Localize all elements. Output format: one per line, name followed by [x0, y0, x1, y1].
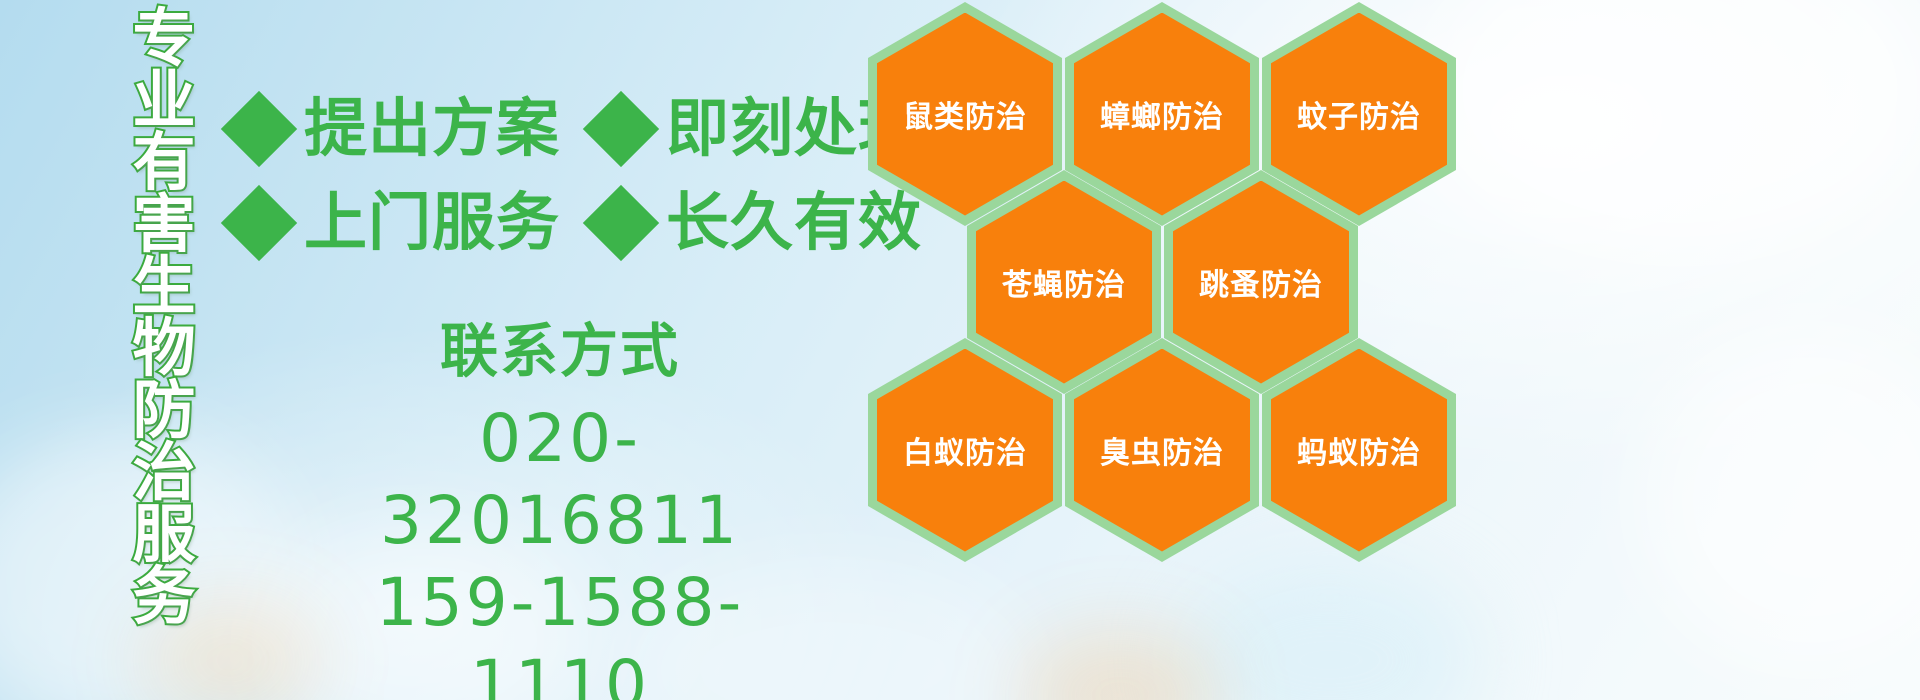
vertical-title-char: 生 — [133, 256, 196, 318]
vertical-title-char: 有 — [133, 132, 196, 194]
vertical-title: 专 业 有 害 生 物 防 治 服 务 — [108, 8, 220, 568]
slogan-row: 提出方案 即刻处理 — [232, 82, 872, 176]
background-bokeh-blob — [1420, 0, 1920, 260]
vertical-title-char: 治 — [133, 442, 196, 504]
service-hexagon-label: 蟑螂防治 — [1100, 92, 1224, 136]
vertical-title-char: 务 — [133, 566, 196, 628]
promo-banner: 专 业 有 害 生 物 防 治 服 务 提出方案 即刻处理 上门服务 长久有效 … — [0, 0, 1920, 700]
contact-block: 联系方式 020-32016811 159-1588-1110 — [300, 316, 820, 700]
slogan-item-label: 上门服务 — [304, 188, 560, 258]
service-hexagon-inner: 蟑螂防治 — [1074, 13, 1250, 216]
service-hexagon-label: 蚂蚁防治 — [1297, 428, 1421, 472]
service-hexagon-inner: 蚊子防治 — [1271, 13, 1447, 216]
vertical-title-char: 服 — [133, 504, 196, 566]
service-hexagon-label: 白蚁防治 — [903, 428, 1027, 472]
slogan-row: 上门服务 长久有效 — [232, 176, 872, 270]
service-hexagon-grid: 鼠类防治 蟑螂防治 蚊子防治 苍蝇防治 跳蚤防治 白蚁防治 — [862, 0, 1462, 552]
vertical-title-char: 防 — [133, 380, 196, 442]
service-hexagon-inner: 臭虫防治 — [1074, 349, 1250, 552]
service-hexagon-inner: 跳蚤防治 — [1173, 181, 1349, 384]
diamond-icon — [583, 91, 659, 167]
service-hexagon-inner: 鼠类防治 — [877, 13, 1053, 216]
phone-landline[interactable]: 020-32016811 — [300, 398, 820, 562]
slogan-item-label: 提出方案 — [304, 94, 560, 164]
service-hexagon-inner: 白蚁防治 — [877, 349, 1053, 552]
vertical-title-char: 业 — [133, 70, 196, 132]
background-bokeh-blob — [1180, 560, 1480, 700]
service-hexagon-inner: 苍蝇防治 — [976, 181, 1152, 384]
vertical-title-char: 专 — [133, 8, 196, 70]
vertical-title-char: 害 — [133, 194, 196, 256]
phone-mobile[interactable]: 159-1588-1110 — [300, 562, 820, 700]
background-bokeh-blob — [1640, 330, 1920, 670]
slogan-block: 提出方案 即刻处理 上门服务 长久有效 — [232, 82, 872, 270]
contact-title: 联系方式 — [300, 316, 820, 386]
diamond-icon — [583, 185, 659, 261]
service-hexagon-label: 鼠类防治 — [903, 92, 1027, 136]
vertical-title-char: 物 — [133, 318, 196, 380]
service-hexagon-label: 跳蚤防治 — [1199, 260, 1323, 304]
service-hexagon-inner: 蚂蚁防治 — [1271, 349, 1447, 552]
diamond-icon — [221, 91, 297, 167]
diamond-icon — [221, 185, 297, 261]
service-hexagon-label: 苍蝇防治 — [1002, 260, 1126, 304]
service-hexagon-label: 蚊子防治 — [1297, 92, 1421, 136]
service-hexagon-label: 臭虫防治 — [1100, 428, 1224, 472]
background-bokeh-blob — [1020, 630, 1220, 700]
